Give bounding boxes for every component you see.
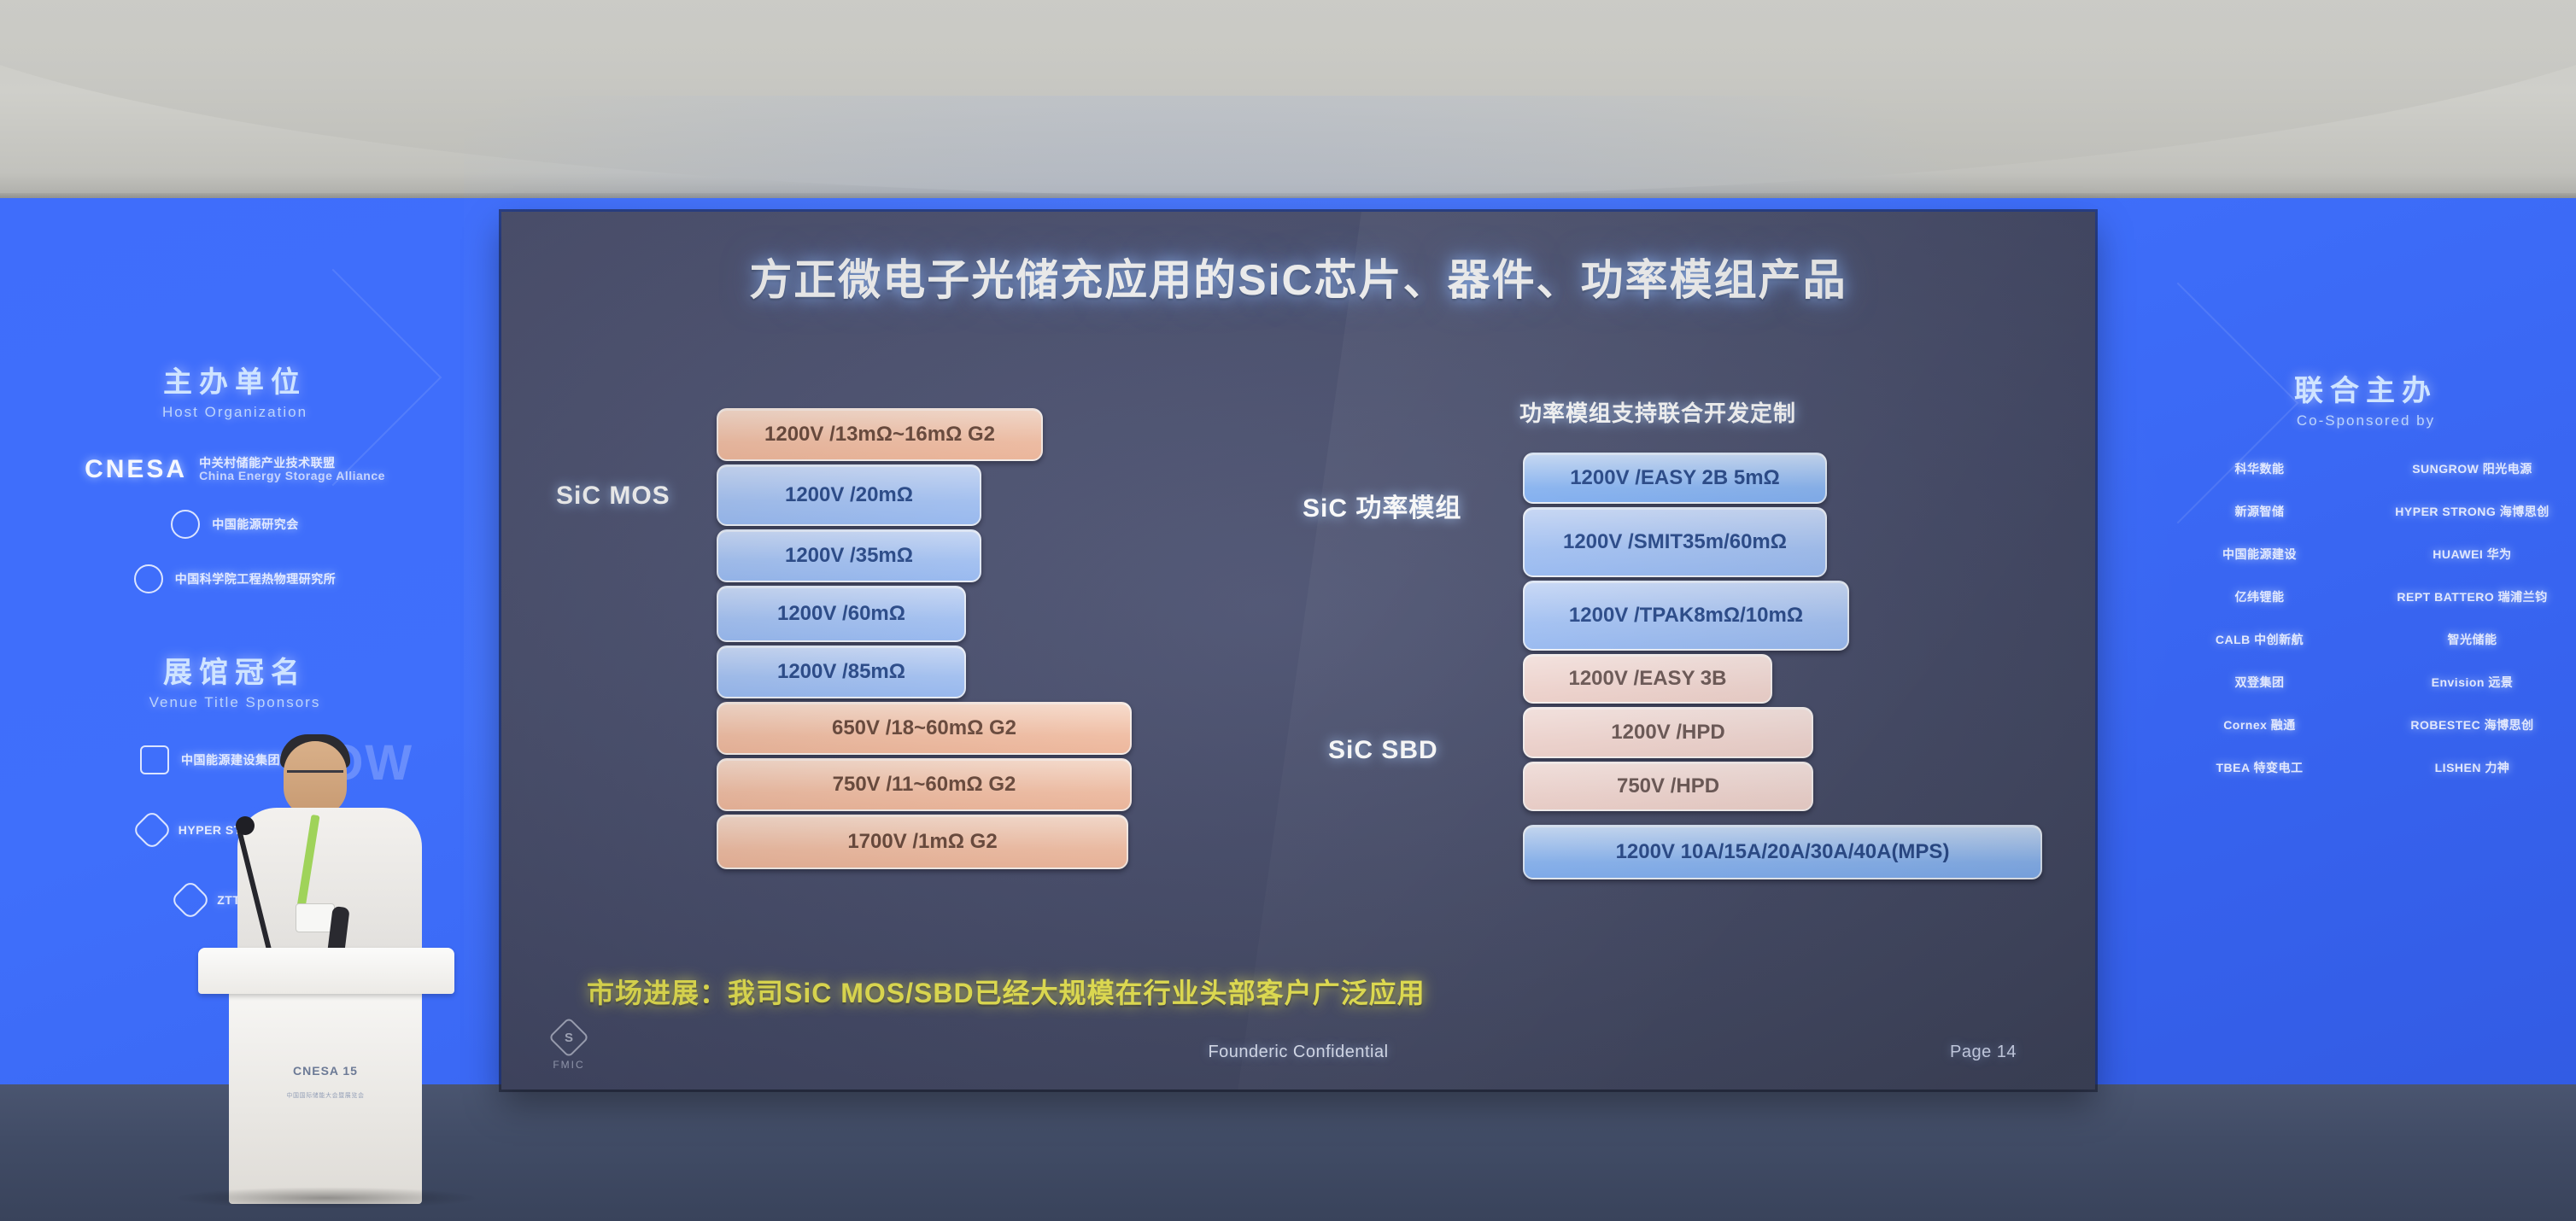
venue-title-en: Venue Title Sponsors xyxy=(34,694,436,711)
pill-text-line: 750V /HPD xyxy=(1617,774,1719,798)
sic-mos-pill-group: 1200V /13mΩ~16mΩ G21200V /20mΩ1200V /35m… xyxy=(717,393,1178,888)
cosponsor-logo-3: HYPER STRONG 海博思创 xyxy=(2374,503,2571,520)
pill-text-line: 1200V /20mΩ xyxy=(785,482,913,507)
speaker-badge xyxy=(296,903,335,932)
sic-module-pill-2: 1200V /TPAK8mΩ/10mΩ xyxy=(1523,581,1849,651)
sic-module-pill-0: 1200V /EASY 2B 5mΩ xyxy=(1523,453,1827,504)
cosponsor-logo-4: 中国能源建设 xyxy=(2161,546,2358,563)
cosponsor-logo-15: LISHEN 力神 xyxy=(2374,759,2571,776)
podium-body: CNESA 15 中国国际储能大会暨展览会 xyxy=(229,990,422,1204)
cnesa-sub-cn: 中关村储能产业技术联盟 xyxy=(199,457,336,470)
cosponsor-logo-label: SUNGROW 阳光电源 xyxy=(2412,460,2532,477)
slide-title: 方正微电子光储充应用的SiC芯片、器件、功率模组产品 xyxy=(501,246,2095,307)
sic-mos-pill-2: 1200V /35mΩ xyxy=(717,529,981,582)
cosponsor-logo-8: CALB 中创新航 xyxy=(2161,631,2358,648)
pill-text-line: 1200V /35mΩ xyxy=(785,543,913,568)
hyperstrong-icon xyxy=(132,809,173,850)
sic-mos-pill-7: 1700V /1mΩ G2 xyxy=(717,815,1128,869)
host-title-en: Host Organization xyxy=(34,404,436,421)
cosponsor-logo-label: LISHEN 力神 xyxy=(2435,759,2510,776)
cosponsor-logo-0: 科华数能 xyxy=(2161,460,2358,477)
sic-mos-pill-5: 650V /18~60mΩ G2 xyxy=(717,702,1132,755)
cosponsor-logo-14: TBEA 特变电工 xyxy=(2161,759,2358,776)
podium-shadow xyxy=(173,1187,480,1209)
sic-module-pill-3: 1200V /EASY 3B xyxy=(1523,654,1772,704)
podium-brand-sub: 中国国际储能大会暨展览会 xyxy=(286,1093,364,1099)
cosponsor-logo-7: REPT BATTERO 瑞浦兰钧 xyxy=(2374,588,2571,605)
cosponsor-logo-9: 智光储能 xyxy=(2374,631,2571,648)
speaker-figure: CNESA 15 中国国际储能大会暨展览会 xyxy=(222,726,444,1204)
cnesa-sub-en: China Energy Storage Alliance xyxy=(199,470,385,482)
pill-text-line: 1200V /TPAK xyxy=(1569,603,1694,628)
sic-mos-pill-4: 1200V /85mΩ xyxy=(717,646,966,698)
sic-mos-pill-6: 750V /11~60mΩ G2 xyxy=(717,758,1132,811)
sic-sbd-pill: 1200V 10A/15A/20A/30A/40A(MPS) xyxy=(1523,825,2042,879)
sic-module-pill-group: 1200V /EASY 2B 5mΩ1200V /SMIT35m/60mΩ120… xyxy=(1523,441,2087,919)
cers-name: 中国能源研究会 xyxy=(212,516,299,533)
sic-module-pill-1: 1200V /SMIT35m/60mΩ xyxy=(1523,507,1827,577)
slide-footer: FMIC Founderic Confidential Page 14 xyxy=(501,1023,2095,1072)
pill-text-line: 1200V /EASY 3B xyxy=(1568,666,1726,691)
cosponsor-logo-label: TBEA 特变电工 xyxy=(2216,759,2304,776)
cosponsor-logo-label: 亿纬锂能 xyxy=(2235,588,2285,605)
host-organization-panel: 主办单位 Host Organization CNESA 中关村储能产业技术联盟… xyxy=(34,359,436,593)
host-logo-list: CNESA 中关村储能产业技术联盟 China Energy Storage A… xyxy=(34,455,436,593)
cosponsor-logo-label: ROBESTEC 海博思创 xyxy=(2410,716,2533,733)
pill-text-line: 8mΩ/10mΩ xyxy=(1694,603,1803,628)
cosponsor-logo-label: REPT BATTERO 瑞浦兰钧 xyxy=(2397,588,2547,605)
cosponsor-logo-label: Cornex 融通 xyxy=(2223,716,2296,733)
logo-item-cers: 中国能源研究会 xyxy=(171,510,299,539)
sic-mos-pill-1: 1200V /20mΩ xyxy=(717,464,981,526)
row-label-sic-power-module: SiC 功率模组 xyxy=(1303,487,1461,524)
venue-title-cn: 展馆冠名 xyxy=(34,649,436,691)
pill-text-line: 1200V 10A/15A/20A/30A/40A(MPS) xyxy=(1616,839,1950,864)
co-sponsors-panel: 联合主办 Co-Sponsored by 科华数能SUNGROW 阳光电源新源智… xyxy=(2161,367,2571,776)
pill-text-line: 1700V /1mΩ G2 xyxy=(847,829,997,854)
microphone-icon xyxy=(236,816,255,835)
logo-item-iet-cas: 中国科学院工程热物理研究所 xyxy=(134,564,337,593)
cosponsor-logo-10: 双登集团 xyxy=(2161,674,2358,691)
institute-icon xyxy=(134,564,163,593)
ceec-icon xyxy=(140,745,169,774)
cosponsor-logo-11: Envision 远景 xyxy=(2374,674,2571,691)
podium-top xyxy=(198,948,454,994)
module-custom-heading: 功率模组支持联合开发定制 xyxy=(1519,396,1796,428)
cosponsor-logo-label: 双登集团 xyxy=(2235,674,2285,691)
speaker-glasses xyxy=(287,770,343,782)
pill-text-line: 1200V /13mΩ~16mΩ G2 xyxy=(764,422,995,447)
sic-module-pill-4: 1200V /HPD xyxy=(1523,707,1813,758)
row-label-sic-mos: SiC MOS xyxy=(556,482,670,511)
pill-text-line: 1200V /85mΩ xyxy=(777,659,905,684)
cosponsor-logo-13: ROBESTEC 海博思创 xyxy=(2374,716,2571,733)
cosponsor-title-en: Co-Sponsored by xyxy=(2161,412,2571,429)
sic-mos-pill-3: 1200V /60mΩ xyxy=(717,586,966,642)
sic-module-pill-5: 750V /HPD xyxy=(1523,762,1813,811)
market-progress-highlight: 市场进展：我司SiC MOS/SBD已经大规模在行业头部客户广泛应用 xyxy=(587,972,1426,1011)
cosponsor-logo-label: HYPER STRONG 海博思创 xyxy=(2395,503,2549,520)
pill-text-line: 650V /18~60mΩ G2 xyxy=(832,716,1016,740)
cosponsor-logo-label: 中国能源建设 xyxy=(2222,546,2297,563)
cosponsor-logo-1: SUNGROW 阳光电源 xyxy=(2374,460,2571,477)
conference-stage-scene: 主办单位 Host Organization CNESA 中关村储能产业技术联盟… xyxy=(0,0,2576,1221)
pill-text-line: 1200V /EASY 2B 5mΩ xyxy=(1570,465,1780,490)
projection-screen: 方正微电子光储充应用的SiC芯片、器件、功率模组产品 SiC MOS 1200V… xyxy=(501,212,2095,1090)
iet-cas-name: 中国科学院工程热物理研究所 xyxy=(175,570,337,587)
cosponsor-logo-2: 新源智储 xyxy=(2161,503,2358,520)
podium-brand: CNESA 15 xyxy=(229,1064,422,1078)
sic-mos-pill-0: 1200V /13mΩ~16mΩ G2 xyxy=(717,408,1043,461)
ztt-icon xyxy=(170,879,211,920)
pill-text-line: 1200V /60mΩ xyxy=(777,601,905,626)
cosponsor-logo-12: Cornex 融通 xyxy=(2161,716,2358,733)
cosponsor-logo-label: CALB 中创新航 xyxy=(2216,631,2304,648)
host-title-cn: 主办单位 xyxy=(34,359,436,400)
pill-text-line: 750V /11~60mΩ G2 xyxy=(833,772,1016,797)
pill-text-line: 1200V /SMIT xyxy=(1563,529,1683,554)
footer-page-number: Page 14 xyxy=(1950,1043,2017,1062)
footer-confidential-text: Founderic Confidential xyxy=(501,1043,2095,1062)
cosponsor-logo-5: HUAWEI 华为 xyxy=(2374,546,2571,563)
cosponsor-logo-label: 科华数能 xyxy=(2235,460,2285,477)
lotus-icon xyxy=(171,510,200,539)
cosponsor-logo-label: 新源智储 xyxy=(2235,503,2285,520)
cnesa-wordmark: CNESA xyxy=(85,455,187,484)
cosponsor-logo-label: Envision 远景 xyxy=(2432,674,2514,691)
cosponsor-logo-grid: 科华数能SUNGROW 阳光电源新源智储HYPER STRONG 海博思创中国能… xyxy=(2161,460,2571,776)
cosponsor-title-cn: 联合主办 xyxy=(2161,367,2571,409)
cosponsor-logo-6: 亿纬锂能 xyxy=(2161,588,2358,605)
pill-text-line: 35m/60mΩ xyxy=(1683,529,1787,554)
cosponsor-logo-label: 智光储能 xyxy=(2448,631,2497,648)
pill-text-line: 1200V /HPD xyxy=(1611,720,1724,745)
podium: CNESA 15 中国国际储能大会暨展览会 xyxy=(198,948,454,1204)
logo-item-cnesa: CNESA 中关村储能产业技术联盟 China Energy Storage A… xyxy=(85,455,385,484)
cosponsor-logo-label: HUAWEI 华为 xyxy=(2433,546,2511,563)
row-label-sic-sbd: SiC SBD xyxy=(1328,736,1438,765)
